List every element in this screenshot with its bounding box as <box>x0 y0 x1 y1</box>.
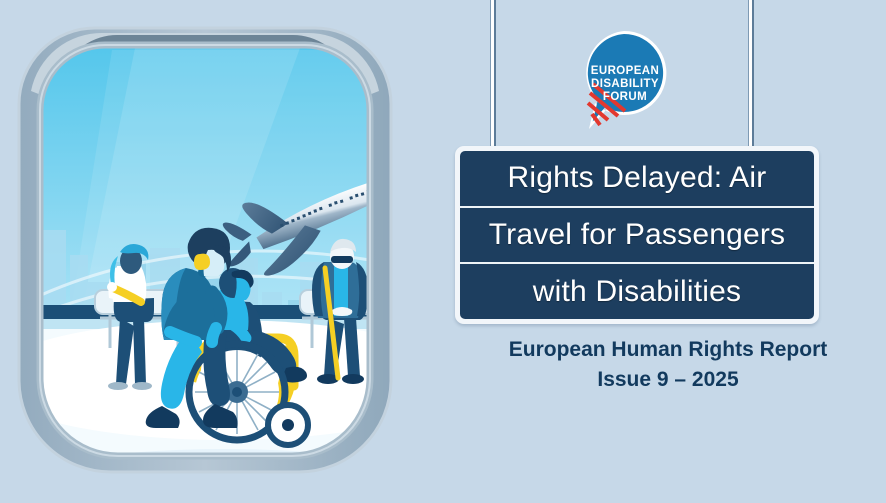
title-line-1: Rights Delayed: Air <box>460 151 814 206</box>
sign-rod-left <box>490 0 496 160</box>
title-line-2: Travel for Passengers <box>460 206 814 263</box>
logo-line-2: DISABILITY <box>591 78 659 90</box>
title-panel: EUROPEAN DISABILITY FORUM Rights Delayed… <box>450 0 886 498</box>
european-disability-forum-logo[interactable]: EUROPEAN DISABILITY FORUM <box>578 27 670 135</box>
subtitle-line-1: European Human Rights Report <box>450 335 886 365</box>
logo-line-1: EUROPEAN <box>591 65 659 77</box>
sign-rod-right <box>748 0 754 160</box>
subtitle-line-2: Issue 9 – 2025 <box>450 365 886 395</box>
airplane-window-illustration <box>0 0 450 498</box>
logo-line-3: FORUM <box>603 91 647 103</box>
title-line-3: with Disabilities <box>460 262 814 319</box>
title-sign-inner: Rights Delayed: Air Travel for Passenger… <box>460 151 814 319</box>
title-sign-board: Rights Delayed: Air Travel for Passenger… <box>455 146 819 324</box>
report-subtitle: European Human Rights Report Issue 9 – 2… <box>450 335 886 395</box>
poster-canvas: EUROPEAN DISABILITY FORUM Rights Delayed… <box>0 0 886 498</box>
